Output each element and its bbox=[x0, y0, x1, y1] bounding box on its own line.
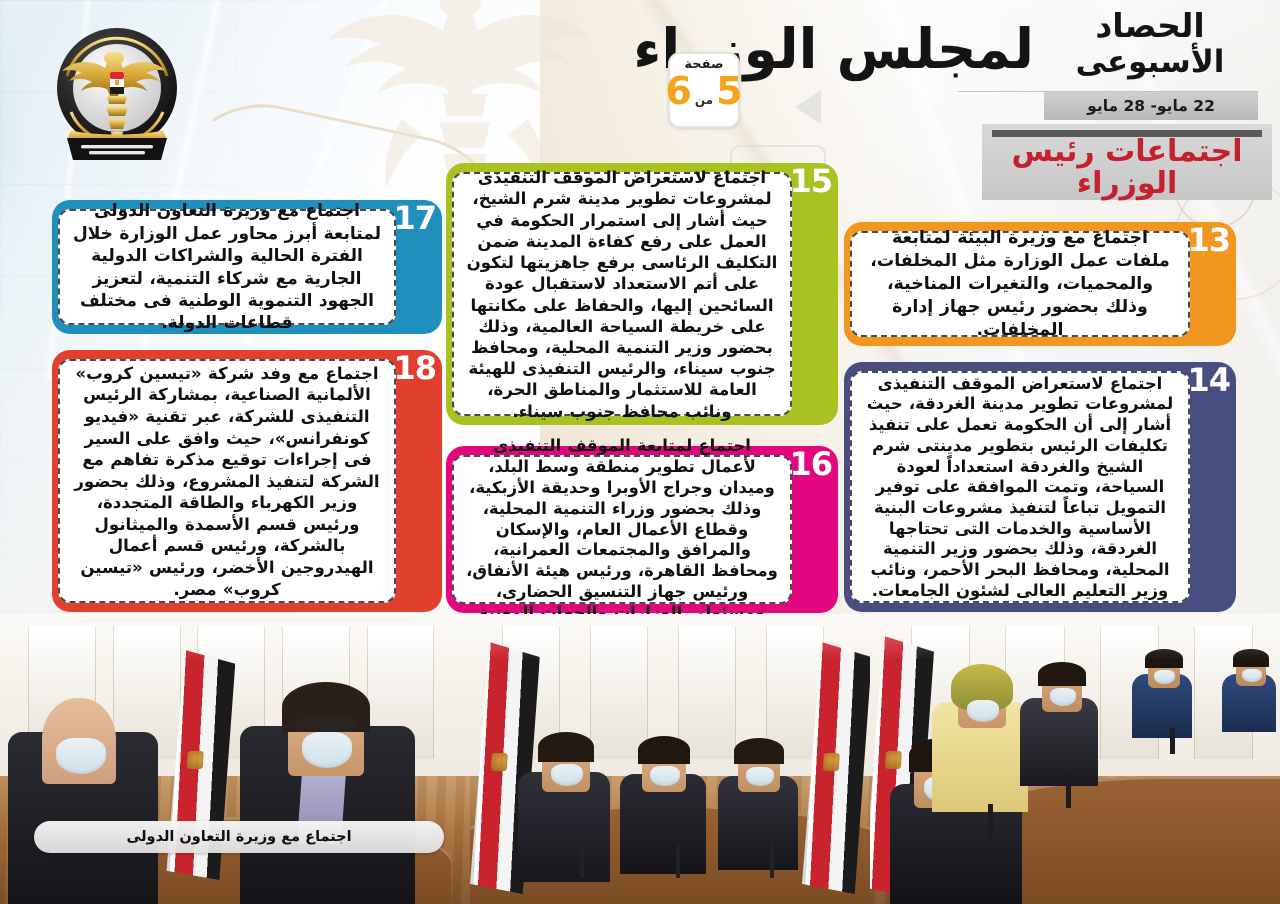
photo-mid-person-3 bbox=[738, 744, 780, 792]
news-card-14-number: 14 bbox=[1190, 364, 1230, 396]
news-card-14-text: اجتماع لاستعراض الموقف التنفيذى لمشروعات… bbox=[864, 374, 1176, 601]
section-title-line-1: اجتماعات رئيس bbox=[1011, 134, 1242, 169]
news-card-17-number: 17 bbox=[396, 202, 436, 234]
news-card-14: 14 اجتماع لاستعراض الموقف التنفيذى لمشرو… bbox=[844, 362, 1236, 612]
government-media-center-logo bbox=[37, 16, 197, 176]
news-card-16: 16 اجتماع لمتابعة الموقف التنفيذى لأعمال… bbox=[446, 446, 838, 613]
page-badge-current: 5 bbox=[716, 72, 742, 110]
photo-left-caption: اجتماع مع وزيرة التعاون الدولى bbox=[34, 821, 444, 853]
news-card-15-text: اجتماع لاستعراض الموقف التنفيذى لمشروعات… bbox=[466, 167, 778, 422]
publication-subtitle: الحصاد الأسبوعى bbox=[1044, 8, 1256, 80]
news-card-17: 17 اجتماع مع وزيرة التعاون الدولى لمتابع… bbox=[52, 200, 442, 334]
news-card-18-text: اجتماع مع وفد شركة «تيسين كروب» الألماني… bbox=[72, 363, 382, 600]
news-card-18: 18 اجتماع مع وفد شركة «تيسين كروب» الألم… bbox=[52, 350, 442, 612]
photo-strip: اجتماع مع وزيرة التعاون الدولى bbox=[0, 614, 1280, 904]
page-badge-numbers: 5 من 6 bbox=[665, 72, 742, 110]
section-title: اجتماعات رئيس الوزراء bbox=[982, 136, 1272, 201]
news-card-13: 13 اجتماع مع وزيرة البيئة لمتابعة ملفات … bbox=[844, 222, 1236, 346]
photo-right-person-2 bbox=[958, 676, 1006, 728]
news-card-15-number: 15 bbox=[792, 165, 832, 197]
news-card-14-body: اجتماع لاستعراض الموقف التنفيذى لمشروعات… bbox=[850, 371, 1190, 603]
news-card-15: 15 اجتماع لاستعراض الموقف التنفيذى لمشرو… bbox=[446, 163, 838, 425]
section-title-line-2: الوزراء bbox=[1077, 166, 1178, 201]
news-card-18-number: 18 bbox=[396, 352, 436, 384]
news-card-17-body: اجتماع مع وزيرة التعاون الدولى لمتابعة أ… bbox=[58, 209, 396, 325]
photo-right-person-4 bbox=[1148, 654, 1180, 688]
news-card-13-body: اجتماع مع وزيرة البيئة لمتابعة ملفات عمل… bbox=[850, 231, 1190, 337]
photo-left-person-1 bbox=[42, 698, 116, 784]
masthead: لمجلس الوزراء الحصاد الأسبوعى 22 مايو- 2… bbox=[502, 4, 1262, 134]
news-card-18-body: اجتماع مع وفد شركة «تيسين كروب» الألماني… bbox=[58, 359, 396, 603]
news-card-15-body: اجتماع لاستعراض الموقف التنفيذى لمشروعات… bbox=[452, 172, 792, 416]
photo-mid-person-1 bbox=[542, 738, 590, 792]
infographic-page: لمجلس الوزراء الحصاد الأسبوعى 22 مايو- 2… bbox=[0, 0, 1280, 904]
page-number-badge: صفحة 5 من 6 bbox=[668, 52, 740, 128]
subtitle-line-1: الحصاد bbox=[1044, 8, 1256, 45]
section-header: اجتماعات رئيس الوزراء bbox=[982, 124, 1272, 200]
news-card-13-number: 13 bbox=[1190, 224, 1230, 256]
page-badge-total: 6 bbox=[665, 72, 691, 110]
date-range-bar: 22 مايو- 28 مايو bbox=[1044, 92, 1258, 120]
news-card-17-text: اجتماع مع وزيرة التعاون الدولى لمتابعة أ… bbox=[72, 200, 382, 335]
photo-right-person-5 bbox=[1236, 654, 1266, 686]
photo-left-person-2 bbox=[288, 692, 364, 776]
subtitle-line-2: الأسبوعى bbox=[1044, 45, 1256, 80]
photo-mid-person-2 bbox=[642, 742, 686, 792]
photo-right-person-3 bbox=[1042, 668, 1082, 712]
news-card-16-body: اجتماع لمتابعة الموقف التنفيذى لأعمال تط… bbox=[452, 455, 792, 604]
page-badge-of: من bbox=[695, 93, 713, 107]
photo-meeting-international-cooperation: اجتماع مع وزيرة التعاون الدولى bbox=[0, 614, 470, 904]
news-card-13-text: اجتماع مع وزيرة البيئة لمتابعة ملفات عمل… bbox=[864, 227, 1176, 342]
photo-meeting-environment: اجتماع مع وزيرة البيئة لمتابعة ملفات عمل… bbox=[870, 614, 1280, 904]
news-card-16-number: 16 bbox=[792, 448, 832, 480]
photo-meeting-hurghada: اجتماع لاستعراض الموقف التنفيذى لمشروعات… bbox=[470, 614, 870, 904]
news-card-16-text: اجتماع لمتابعة الموقف التنفيذى لأعمال تط… bbox=[466, 436, 778, 623]
